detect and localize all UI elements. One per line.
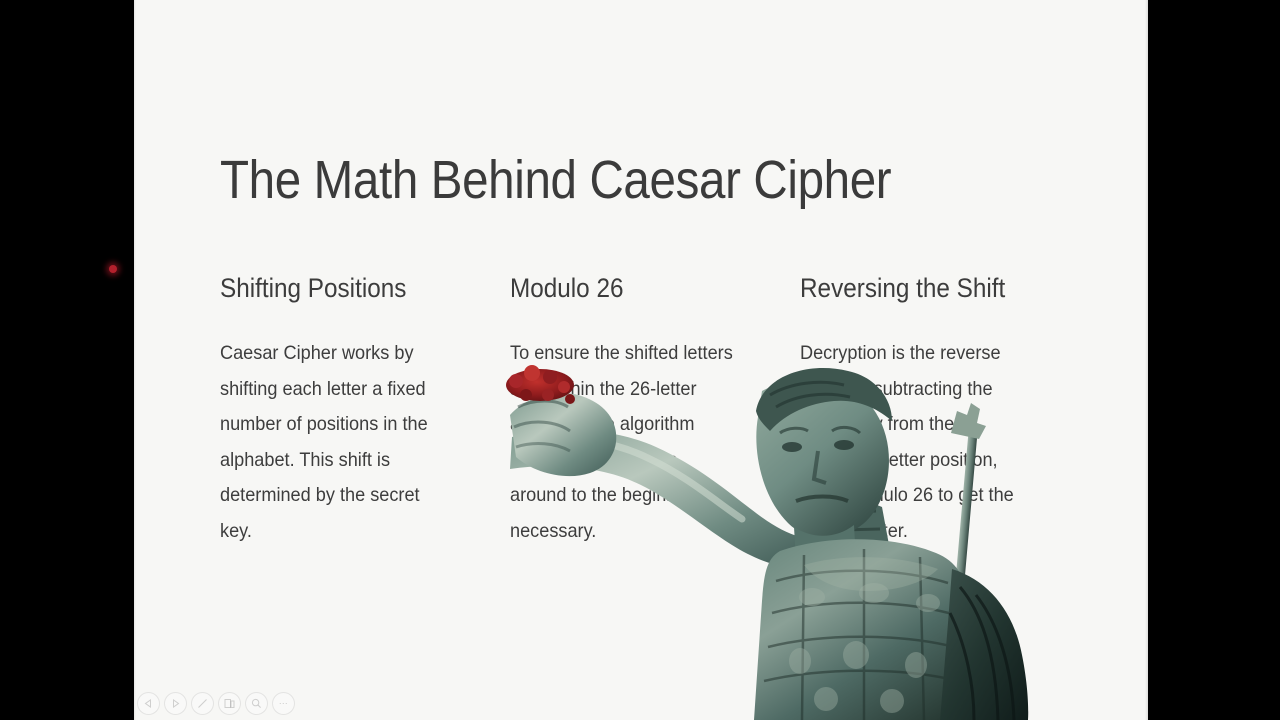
grid-icon	[224, 698, 235, 709]
column-heading: Modulo 26	[510, 272, 728, 304]
next-slide-button[interactable]	[164, 692, 187, 715]
slide-text-layer: The Math Behind Caesar Cipher Shifting P…	[134, 0, 1148, 720]
presentation-viewer: The Math Behind Caesar Cipher Shifting P…	[0, 0, 1280, 720]
slide-title: The Math Behind Caesar Cipher	[220, 148, 891, 212]
triangle-left-icon	[144, 699, 153, 708]
column-modulo-26: Modulo 26 To ensure the shifted letters …	[510, 272, 800, 549]
triangle-right-icon	[171, 699, 180, 708]
presentation-toolbar[interactable]: ⋯	[134, 690, 295, 716]
column-body-text: To ensure the shifted letters stay withi…	[510, 336, 735, 549]
column-body-text: Caesar Cipher works by shifting each let…	[220, 336, 445, 549]
column-reversing-the-shift: Reversing the Shift Decryption is the re…	[800, 272, 1090, 549]
column-heading: Reversing the Shift	[800, 272, 1018, 304]
column-body-text: Decryption is the reverse process, subtr…	[800, 336, 1025, 549]
ellipsis-icon: ⋯	[279, 698, 289, 709]
column-heading: Shifting Positions	[220, 272, 438, 304]
annotate-button[interactable]	[191, 692, 214, 715]
zoom-button[interactable]	[245, 692, 268, 715]
more-options-button[interactable]: ⋯	[272, 692, 295, 715]
laser-pointer-dot	[109, 265, 117, 273]
slide-columns: Shifting Positions Caesar Cipher works b…	[220, 272, 1090, 549]
pen-icon	[197, 698, 208, 709]
previous-slide-button[interactable]	[137, 692, 160, 715]
slide-canvas[interactable]: The Math Behind Caesar Cipher Shifting P…	[134, 0, 1148, 720]
column-shifting-positions: Shifting Positions Caesar Cipher works b…	[220, 272, 510, 549]
magnifier-icon	[251, 698, 262, 709]
slide-overview-button[interactable]	[218, 692, 241, 715]
